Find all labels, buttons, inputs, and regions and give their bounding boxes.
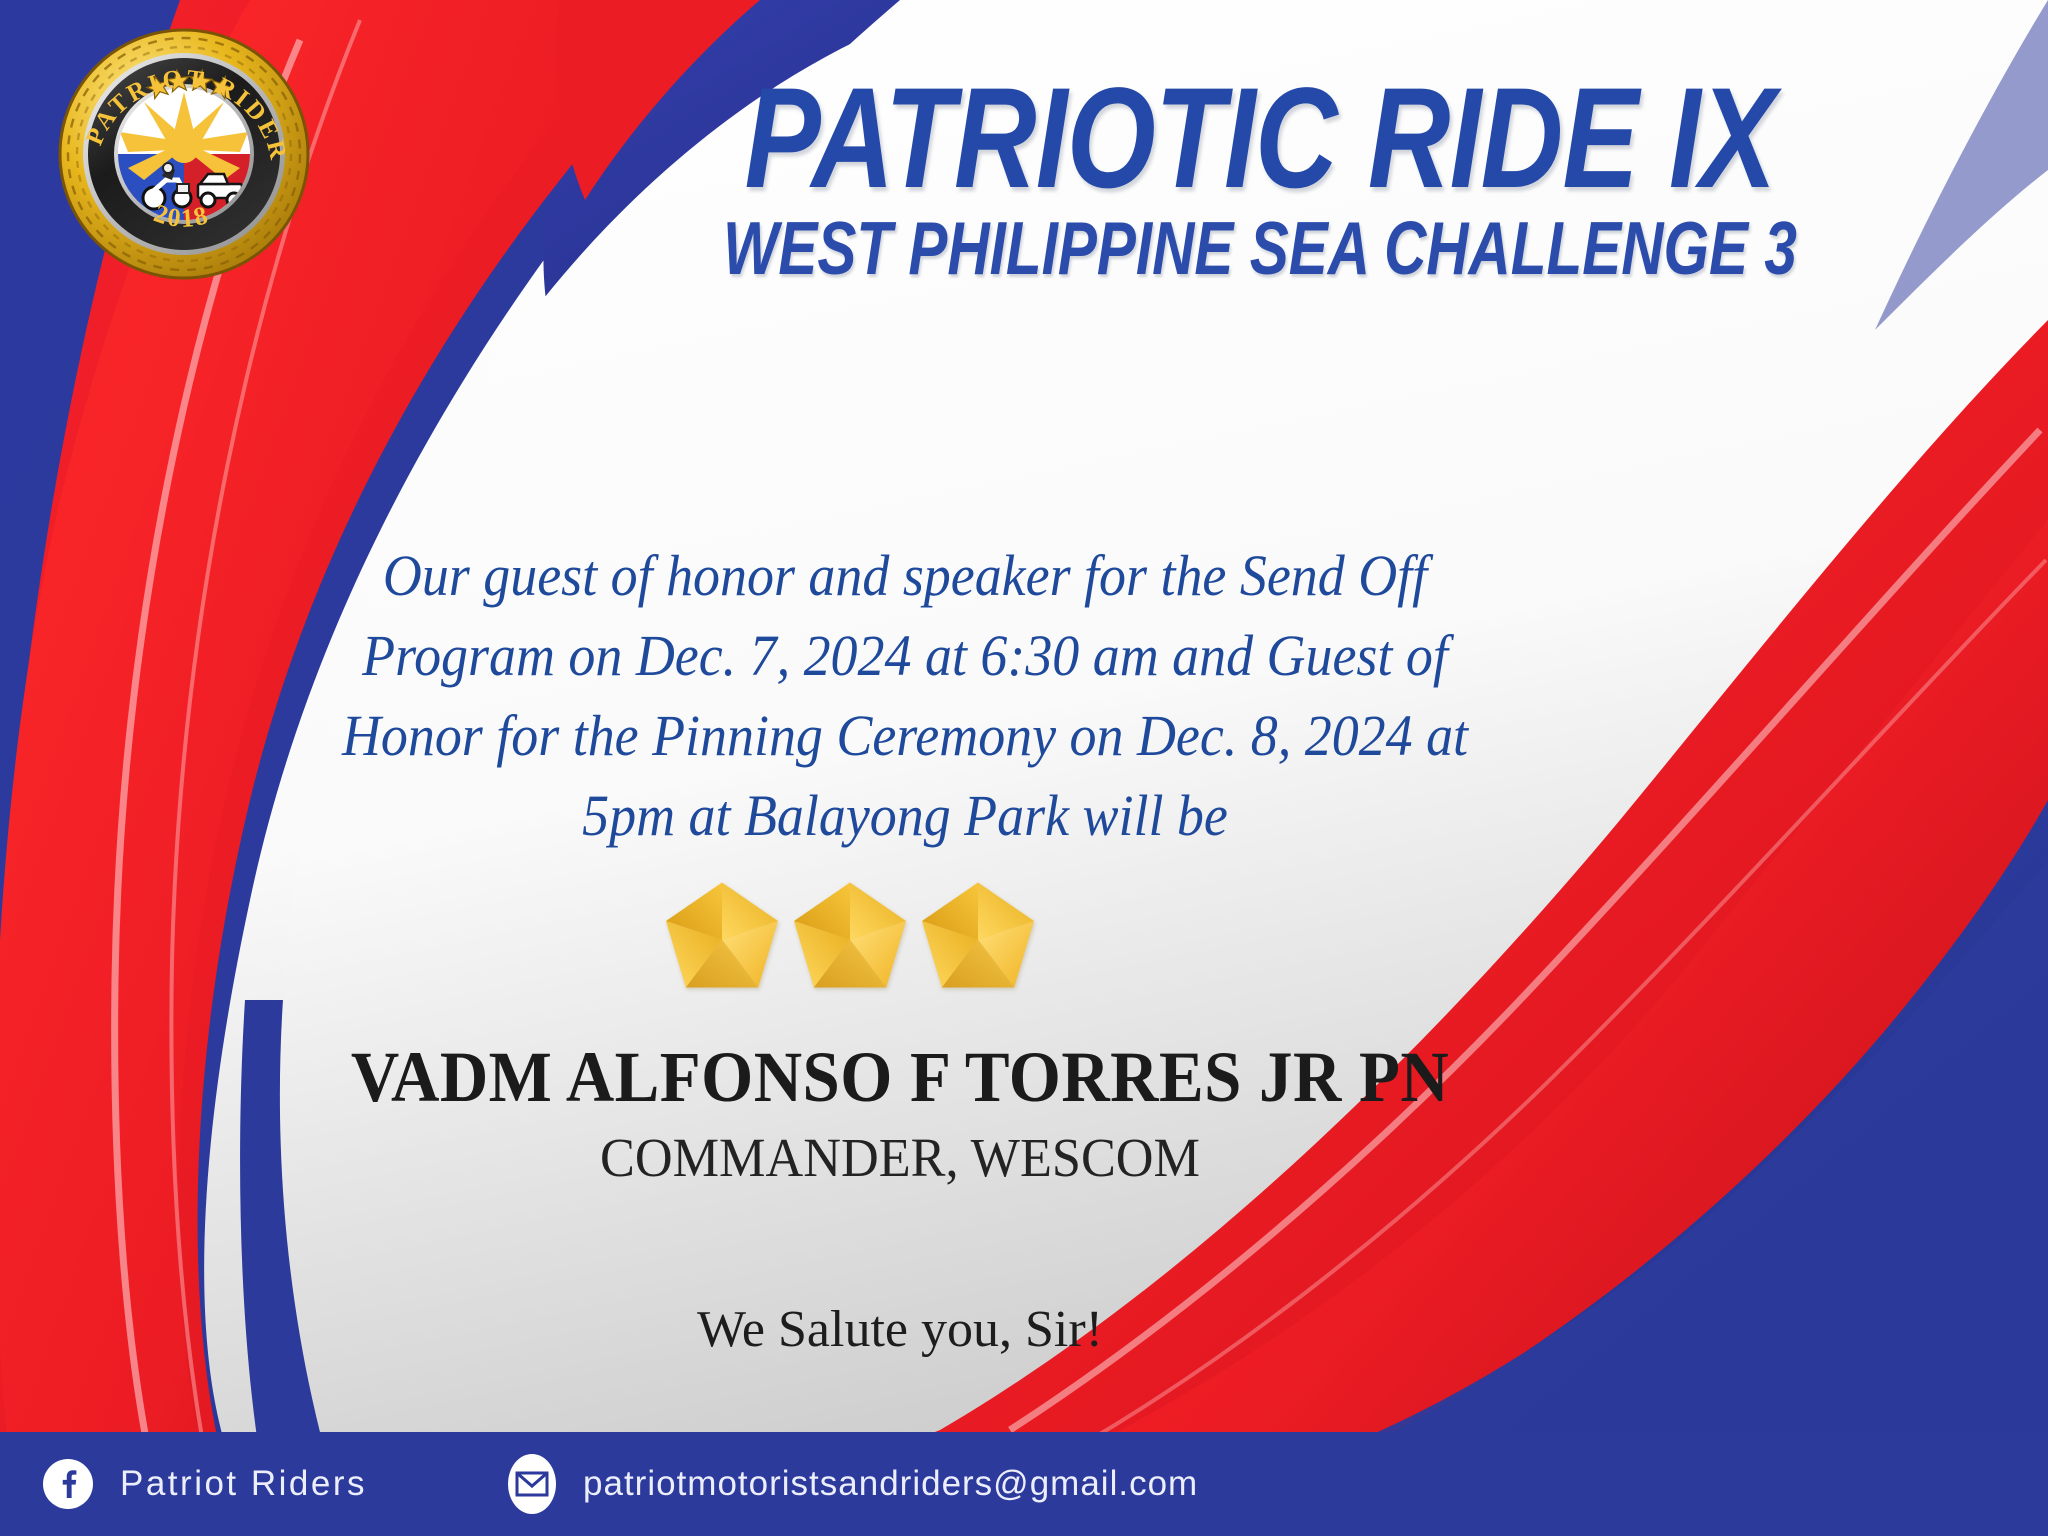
page-subtitle: WEST PHILIPPINE SEA CHALLENGE 3 [714,211,1806,286]
facebook-icon[interactable] [42,1458,94,1510]
footer-facebook[interactable]: Patriot Riders [42,1458,367,1510]
email-label: patriotmotoristsandriders@gmail.com [583,1464,1198,1504]
footer-email[interactable]: patriotmotoristsandriders@gmail.com [507,1453,1198,1515]
honoree-block: VADM ALFONSO F TORRES JR PN COMMANDER, W… [300,1040,1500,1188]
star-icon [663,879,781,991]
star-icon [791,879,909,991]
patriot-rider-logo: PATRIOT RIDER 2018 [58,28,310,280]
poster-header: PATRIOTIC RIDE IX WEST PHILIPPINE SEA CH… [560,72,1960,286]
patriot-rider-logo-svg: PATRIOT RIDER 2018 [58,28,310,280]
poster-canvas: PATRIOT RIDER 2018 PATRIOTIC RIDE IX WES… [0,0,2048,1536]
honoree-role: COMMANDER, WESCOM [330,1128,1470,1189]
announcement-paragraph: Our guest of honor and speaker for the S… [324,536,1487,856]
honoree-name: VADM ALFONSO F TORRES JR PN [342,1040,1458,1116]
star-icon [919,879,1037,991]
envelope-icon[interactable] [507,1453,557,1515]
facebook-label: Patriot Riders [120,1464,367,1504]
rank-stars [640,880,1060,990]
page-title: PATRIOTIC RIDE IX [700,72,1820,205]
footer-bar: Patriot Riders patriotmotoristsandriders… [0,1432,2048,1536]
salute-text: We Salute you, Sir! [400,1300,1400,1359]
